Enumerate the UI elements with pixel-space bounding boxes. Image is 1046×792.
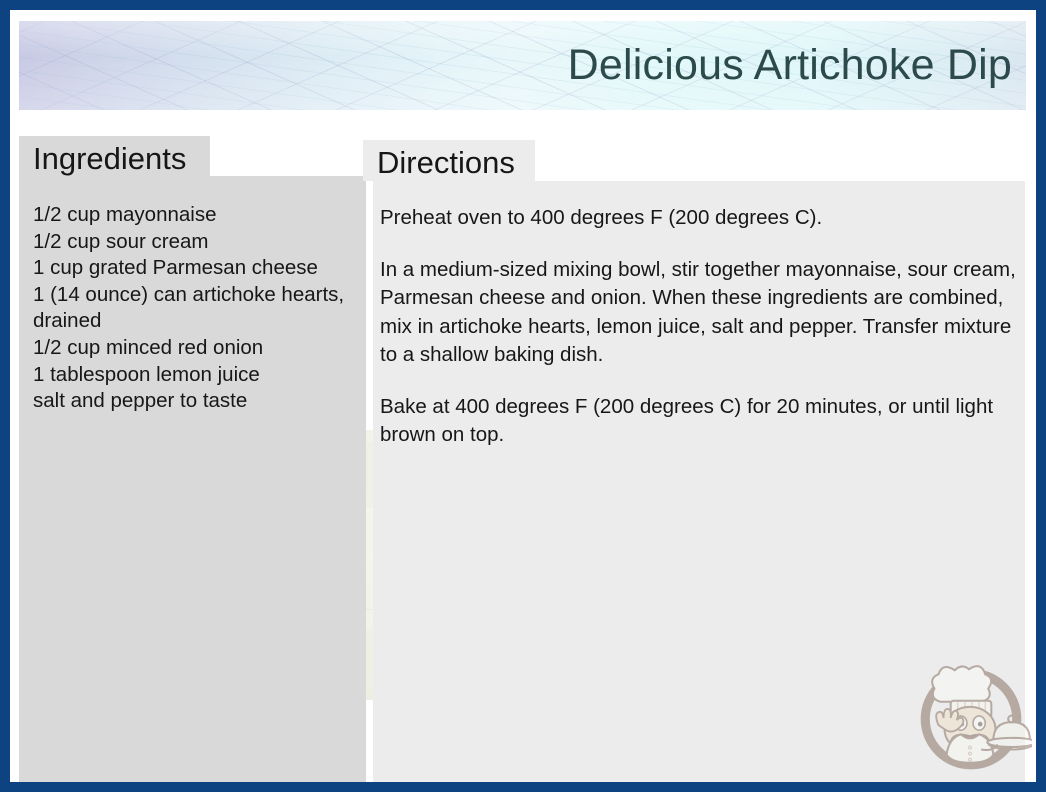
list-item: 1/2 cup mayonnaise xyxy=(33,202,353,229)
section-tab-ingredients[interactable]: Ingredients xyxy=(19,136,210,176)
directions-body: Preheat oven to 400 degrees F (200 degre… xyxy=(380,204,1020,450)
ingredients-list: 1/2 cup mayonnaise 1/2 cup sour cream 1 … xyxy=(33,202,353,415)
page-title: Delicious Artichoke Dip xyxy=(568,35,1012,95)
directions-paragraph: Preheat oven to 400 degrees F (200 degre… xyxy=(380,204,1020,233)
ingredients-tab-label: Ingredients xyxy=(33,141,186,176)
section-tab-directions[interactable]: Directions xyxy=(363,140,535,181)
list-item: 1 (14 ounce) can artichoke hearts, drain… xyxy=(33,282,353,335)
list-item: 1 tablespoon lemon juice xyxy=(33,362,353,389)
slide-canvas: Delicious Artichoke Dip xyxy=(10,10,1036,782)
list-item: salt and pepper to taste xyxy=(33,388,353,415)
list-item: 1/2 cup sour cream xyxy=(33,229,353,256)
directions-paragraph: Bake at 400 degrees F (200 degrees C) fo… xyxy=(380,393,1020,450)
chef-logo-icon xyxy=(910,656,1032,778)
directions-paragraph: In a medium-sized mixing bowl, stir toge… xyxy=(380,256,1020,370)
list-item: 1/2 cup minced red onion xyxy=(33,335,353,362)
directions-tab-label: Directions xyxy=(377,145,515,180)
ingredients-panel: 1/2 cup mayonnaise 1/2 cup sour cream 1 … xyxy=(19,176,366,782)
title-banner: Delicious Artichoke Dip xyxy=(19,21,1026,110)
list-item: 1 cup grated Parmesan cheese xyxy=(33,255,353,282)
